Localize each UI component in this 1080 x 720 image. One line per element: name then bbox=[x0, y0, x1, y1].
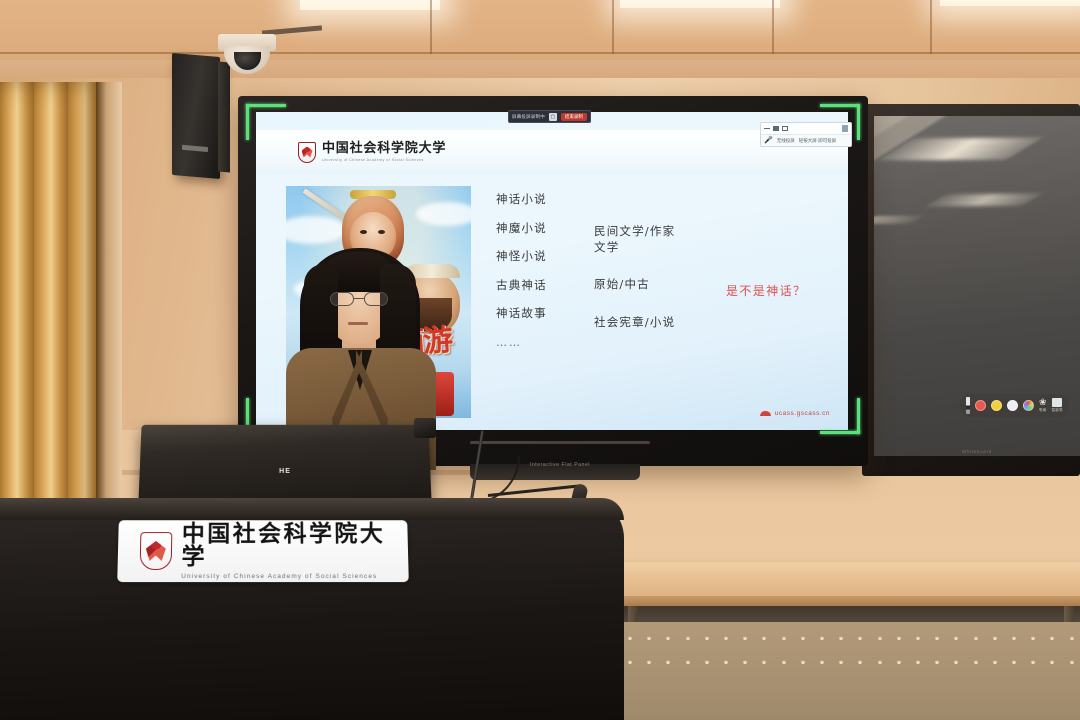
ceiling-tile-line bbox=[772, 0, 774, 54]
cast-label-secondary: 轻按大屏·即可投屏 bbox=[799, 138, 837, 144]
perforation-hole bbox=[858, 636, 862, 640]
perforation-hole bbox=[1070, 636, 1074, 640]
perforation-hole bbox=[666, 660, 670, 664]
podium-university-sign: 中国社会科学院大学 University of Chinese Academy … bbox=[117, 520, 409, 582]
eye bbox=[378, 230, 385, 234]
slide-highlight-question: 是不是神话？ bbox=[726, 282, 806, 299]
perforation-hole bbox=[1012, 636, 1016, 640]
perforation-hole bbox=[647, 636, 651, 640]
secondary-display-brand: Whiteboard bbox=[874, 449, 1080, 454]
ceiling-tile-line bbox=[612, 0, 614, 54]
university-crest-icon bbox=[298, 142, 316, 163]
light-reflection bbox=[926, 194, 1041, 206]
cloud bbox=[416, 202, 471, 226]
perforation-hole bbox=[916, 660, 920, 664]
light-reflection bbox=[878, 138, 1041, 160]
perforation-hole bbox=[628, 660, 632, 664]
pen-toolbar[interactable]: ❀ 笔刷 智能笔 bbox=[960, 394, 1069, 417]
perforation-hole bbox=[782, 660, 786, 664]
color-swatch-white[interactable] bbox=[1007, 400, 1018, 411]
perforation-hole bbox=[878, 660, 882, 664]
ceiling-tile-line bbox=[930, 0, 932, 54]
perforation-hole bbox=[743, 660, 747, 664]
perforation-hole bbox=[1031, 660, 1035, 664]
screen-recorder-toolbar[interactable]: 屏幕投屏录制中 ▢ 结束录制 bbox=[508, 110, 591, 123]
minimize-icon[interactable] bbox=[764, 128, 770, 129]
slide-logo-en: University of Chinese Academy of Social … bbox=[322, 158, 446, 162]
perforation-hole bbox=[705, 660, 709, 664]
monitor-brand-logo: HE bbox=[279, 468, 291, 475]
perforation-hole bbox=[974, 636, 978, 640]
perforation-hole bbox=[897, 636, 901, 640]
speaker-brand-logo bbox=[182, 145, 208, 152]
light-reflection bbox=[874, 216, 924, 224]
perforation-hole bbox=[993, 636, 997, 640]
podium-sign-en: University of Chinese Academy of Social … bbox=[181, 573, 409, 580]
document-icon[interactable] bbox=[842, 125, 848, 132]
perforation-hole bbox=[705, 636, 709, 640]
eyeglasses bbox=[330, 292, 388, 306]
perforation-hole bbox=[935, 660, 939, 664]
scene-root: Whiteboard ❀ 笔刷 智能笔 Interactive Flat Pan… bbox=[0, 0, 1080, 720]
mouth bbox=[348, 322, 368, 325]
footer-mark-icon bbox=[760, 411, 771, 416]
perforation-hole bbox=[1070, 660, 1074, 664]
smart-pen-icon bbox=[1052, 398, 1062, 407]
perforation-hole bbox=[820, 636, 824, 640]
window-curtain bbox=[0, 82, 104, 542]
university-crest-icon bbox=[140, 532, 172, 570]
cast-panel-controls[interactable] bbox=[761, 123, 851, 135]
stop-recording-button[interactable]: 结束录制 bbox=[561, 113, 587, 121]
color-swatch-red[interactable] bbox=[975, 400, 986, 411]
perforation-hole bbox=[897, 660, 901, 664]
brush-icon: ❀ bbox=[1039, 398, 1047, 407]
podium-sign-cn: 中国社会科学院大学 bbox=[181, 522, 408, 568]
perforation-hole bbox=[762, 636, 766, 640]
slide-footer-url: ucass.gscass.cn bbox=[775, 410, 830, 417]
ceiling-tile-line bbox=[430, 0, 432, 54]
color-swatch-rainbow[interactable] bbox=[1023, 400, 1034, 411]
brush-tool-label: 笔刷 bbox=[1039, 408, 1047, 413]
maximize-icon[interactable] bbox=[773, 126, 779, 131]
perforation-hole bbox=[839, 636, 843, 640]
ceiling-light bbox=[620, 0, 780, 8]
microphone-icon[interactable]: 🎤 bbox=[764, 137, 773, 144]
wall-speaker-side bbox=[218, 61, 230, 172]
perforation-hole bbox=[666, 636, 670, 640]
eye bbox=[360, 230, 367, 234]
restore-icon[interactable] bbox=[782, 126, 788, 131]
slide-footer: ucass.gscass.cn bbox=[760, 410, 830, 417]
perforation-hole bbox=[647, 660, 651, 664]
perforation-hole bbox=[878, 636, 882, 640]
brush-tool-button[interactable]: ❀ 笔刷 bbox=[1039, 398, 1047, 413]
cast-panel-info: 🎤 无线投屏 轻按大屏·即可投屏 bbox=[761, 135, 851, 146]
screen-icon[interactable]: ▢ bbox=[549, 113, 557, 121]
main-display-brand: Interactive Flat Panel bbox=[525, 462, 595, 468]
ceiling-tile-line bbox=[0, 52, 1080, 54]
perforation-hole bbox=[954, 660, 958, 664]
perforation-hole bbox=[686, 636, 690, 640]
cast-label-primary: 无线投屏 bbox=[777, 138, 795, 144]
lectern-top-surface bbox=[0, 498, 624, 520]
perforation-hole bbox=[954, 636, 958, 640]
perforation-hole bbox=[993, 660, 997, 664]
perforation-hole bbox=[686, 660, 690, 664]
perforation-hole bbox=[1012, 660, 1016, 664]
wall-speaker bbox=[172, 53, 220, 179]
perforation-hole bbox=[628, 636, 632, 640]
recorder-status-text: 屏幕投屏录制中 bbox=[512, 114, 545, 120]
stylus-pen-icon[interactable] bbox=[966, 397, 970, 414]
smart-pen-tool-button[interactable]: 智能笔 bbox=[1052, 398, 1063, 413]
perforation-hole bbox=[724, 636, 728, 640]
perforation-hole bbox=[916, 636, 920, 640]
podium-monitor[interactable]: HE bbox=[138, 425, 431, 504]
ceiling-light bbox=[300, 0, 440, 10]
perforation-hole bbox=[1031, 636, 1035, 640]
term-item: 社会宪章/小说 bbox=[594, 315, 764, 331]
smart-pen-tool-label: 智能笔 bbox=[1052, 408, 1063, 413]
perforation-hole bbox=[839, 660, 843, 664]
curtain-edge bbox=[96, 82, 122, 552]
perforation-hole bbox=[820, 660, 824, 664]
term-ellipsis: …… bbox=[496, 337, 626, 348]
slide-term-list-right: 民间文学/作家 文学 原始/中古 社会宪章/小说 bbox=[594, 224, 764, 330]
color-swatch-yellow[interactable] bbox=[991, 400, 1002, 411]
perforation-hole bbox=[858, 660, 862, 664]
side-desk-edge bbox=[618, 596, 1080, 606]
perforation-hole bbox=[743, 636, 747, 640]
perforation-hole bbox=[1050, 636, 1054, 640]
slide-logo-cn: 中国社会科学院大学 bbox=[322, 142, 446, 155]
display-bottom-strip bbox=[470, 441, 650, 444]
perforation-hole bbox=[724, 660, 728, 664]
perforation-hole bbox=[762, 660, 766, 664]
desk-modesty-panel bbox=[620, 622, 1080, 720]
ceiling-light bbox=[940, 0, 1080, 6]
perforation-hole bbox=[801, 660, 805, 664]
term-item: 民间文学/作家 文学 bbox=[594, 224, 764, 255]
perforation-hole bbox=[801, 636, 805, 640]
podium-webcam bbox=[414, 418, 436, 438]
wireless-cast-panel[interactable]: 🎤 无线投屏 轻按大屏·即可投屏 bbox=[760, 122, 852, 147]
perforation-hole bbox=[935, 636, 939, 640]
term-item: 神话小说 bbox=[496, 194, 626, 206]
perforation-hole bbox=[1050, 660, 1054, 664]
perforation-hole bbox=[782, 636, 786, 640]
perforation-hole bbox=[974, 660, 978, 664]
